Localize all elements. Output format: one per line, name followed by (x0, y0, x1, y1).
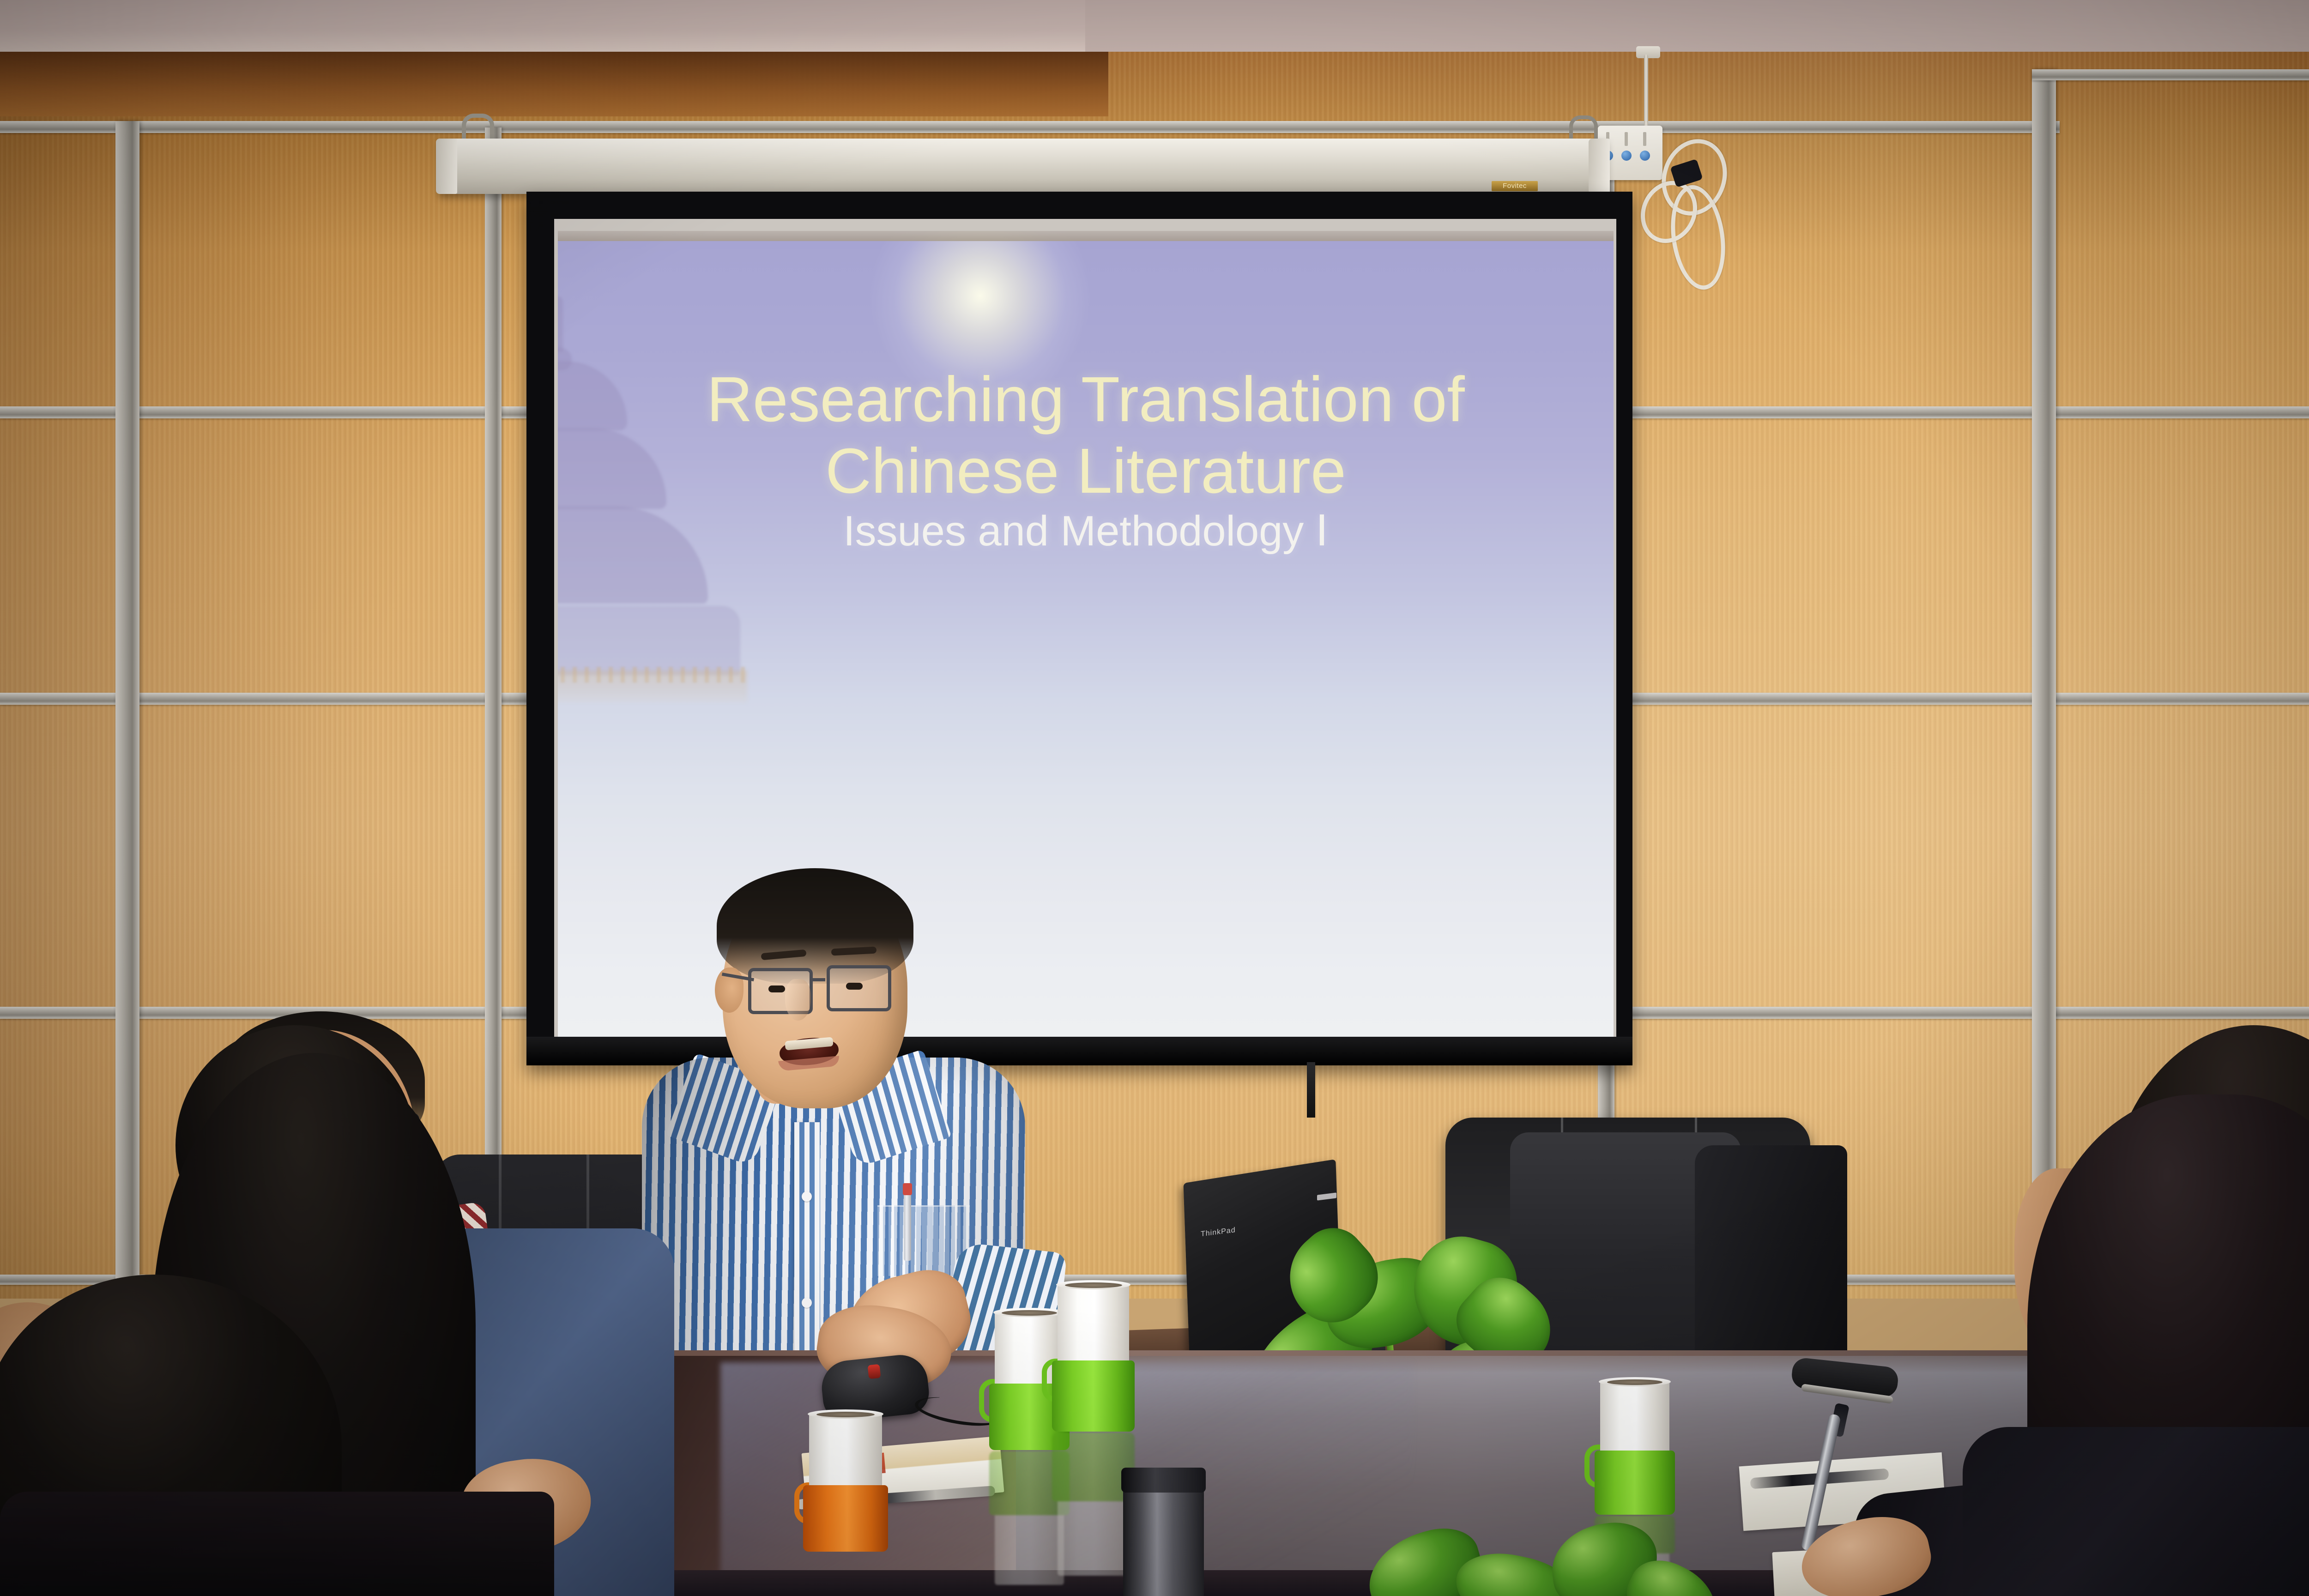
cup-paper-2 (1058, 1284, 1129, 1370)
thermos-lid[interactable] (1121, 1468, 1206, 1493)
glasses-bridge (810, 978, 825, 981)
screen-pull-tab (1307, 1062, 1315, 1118)
control-slot-2 (1625, 132, 1628, 146)
slide-title-line-2: Chinese Literature (609, 435, 1563, 507)
conference-room-photo: Fovitec Researching Translation of Chine… (0, 0, 2309, 1596)
cup-contents-orange (816, 1412, 875, 1417)
cup-holder-orange (803, 1485, 888, 1552)
wall-trim-right-top (2032, 69, 2309, 80)
foreground-plant-leaves (1367, 1515, 1690, 1596)
slide-title-line-1: Researching Translation of (609, 364, 1563, 435)
ceiling-cable-plug (1636, 46, 1660, 58)
cup-paper-3 (1600, 1381, 1669, 1458)
screen-stop-button[interactable] (1621, 151, 1632, 161)
paper-cup-green-3[interactable] (1600, 1381, 1669, 1515)
screen-down-button[interactable] (1640, 151, 1650, 161)
presenter-nose (785, 979, 811, 1021)
attendee-left-front-shoulder (0, 1492, 554, 1596)
cup-holder-green-2 (1052, 1360, 1135, 1432)
control-slot-3 (1643, 132, 1646, 146)
slide-text-block: Researching Translation of Chinese Liter… (558, 231, 1614, 1041)
cup-contents-2 (1065, 1282, 1122, 1288)
attendee-right-front-torso (1963, 1427, 2309, 1596)
paper-cup-green-2[interactable] (1058, 1284, 1129, 1432)
roller-end-cap-left (436, 139, 457, 194)
slide-title: Researching Translation of Chinese Liter… (558, 364, 1614, 507)
wall-shadow-band (0, 52, 1108, 116)
wall-pillar-left (115, 121, 139, 1285)
cup-contents-3 (1607, 1379, 1662, 1385)
thermos-flask[interactable] (1123, 1482, 1204, 1596)
paper-cup-orange[interactable] (809, 1413, 882, 1552)
slide-subtitle: Issues and Methodology Ⅰ (558, 506, 1614, 556)
paper-cup-green-2-reflection (1058, 1433, 1129, 1576)
presentation-slide: Researching Translation of Chinese Liter… (558, 231, 1614, 1041)
cup-paper-orange (809, 1413, 882, 1493)
wall-trim-horizontal-1 (0, 121, 2060, 133)
mouse-scroll-wheel[interactable] (868, 1364, 881, 1379)
cup-holder-green-3 (1595, 1451, 1675, 1515)
cup-contents-1 (1002, 1310, 1057, 1316)
screen-brand-badge: Fovitec (1492, 181, 1538, 191)
wall-trim-vertical-1 (485, 127, 502, 1282)
wall-pillar-right (2032, 69, 2056, 1284)
presenter-eye-left (768, 985, 785, 992)
roller-end-cap-right (1589, 139, 1610, 194)
power-cable (1644, 54, 1648, 133)
presenter-eye-right (846, 983, 863, 990)
projector-screen-roller (439, 139, 1607, 194)
